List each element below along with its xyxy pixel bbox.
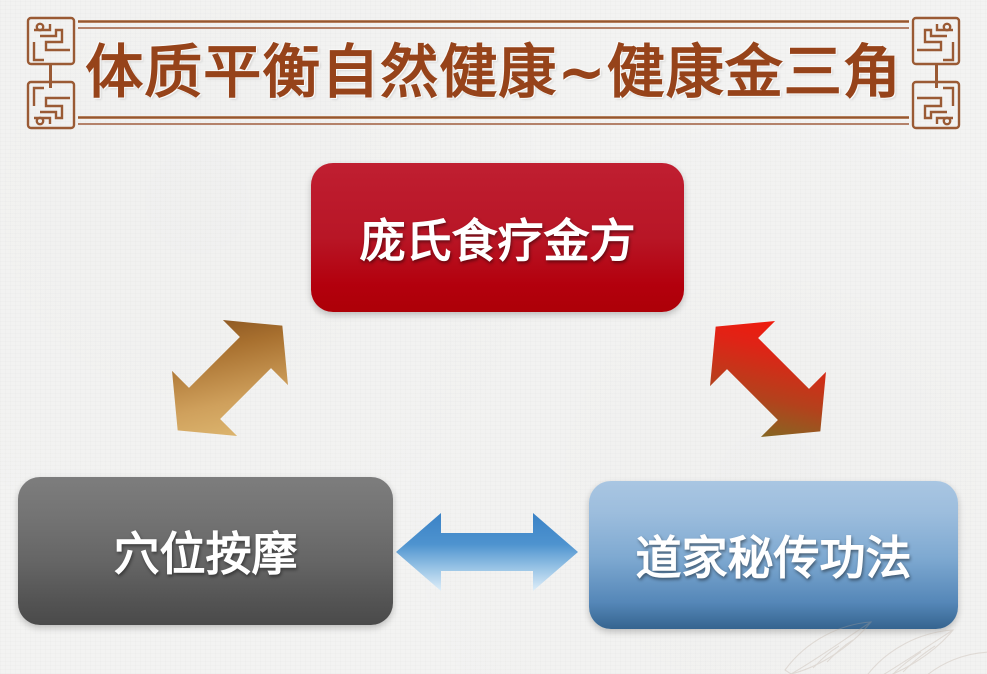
- node-bottom-right-label: 道家秘传功法: [636, 522, 912, 588]
- node-top[interactable]: 庞氏食疗金方: [311, 163, 684, 312]
- arrow-bottom-blue: [394, 511, 580, 593]
- node-bottom-left-label: 穴位按摩: [114, 518, 298, 584]
- node-top-label: 庞氏食疗金方: [360, 205, 636, 271]
- frame-rule-bottom-inner: [78, 123, 909, 125]
- node-bottom-left[interactable]: 穴位按摩: [18, 477, 393, 625]
- frame-rule-top-outer: [78, 20, 909, 23]
- arrow-left-gold: [150, 296, 310, 460]
- arrow-right-red: [688, 298, 848, 460]
- frame-rule-bottom-outer: [78, 116, 909, 119]
- frame-rule-top-inner: [78, 27, 909, 29]
- slide-title: 体质平衡自然健康~健康金三角: [22, 32, 965, 112]
- title-frame: 体质平衡自然健康~健康金三角: [22, 8, 965, 136]
- slide-canvas: 体质平衡自然健康~健康金三角: [0, 0, 987, 674]
- node-bottom-right[interactable]: 道家秘传功法: [589, 481, 958, 629]
